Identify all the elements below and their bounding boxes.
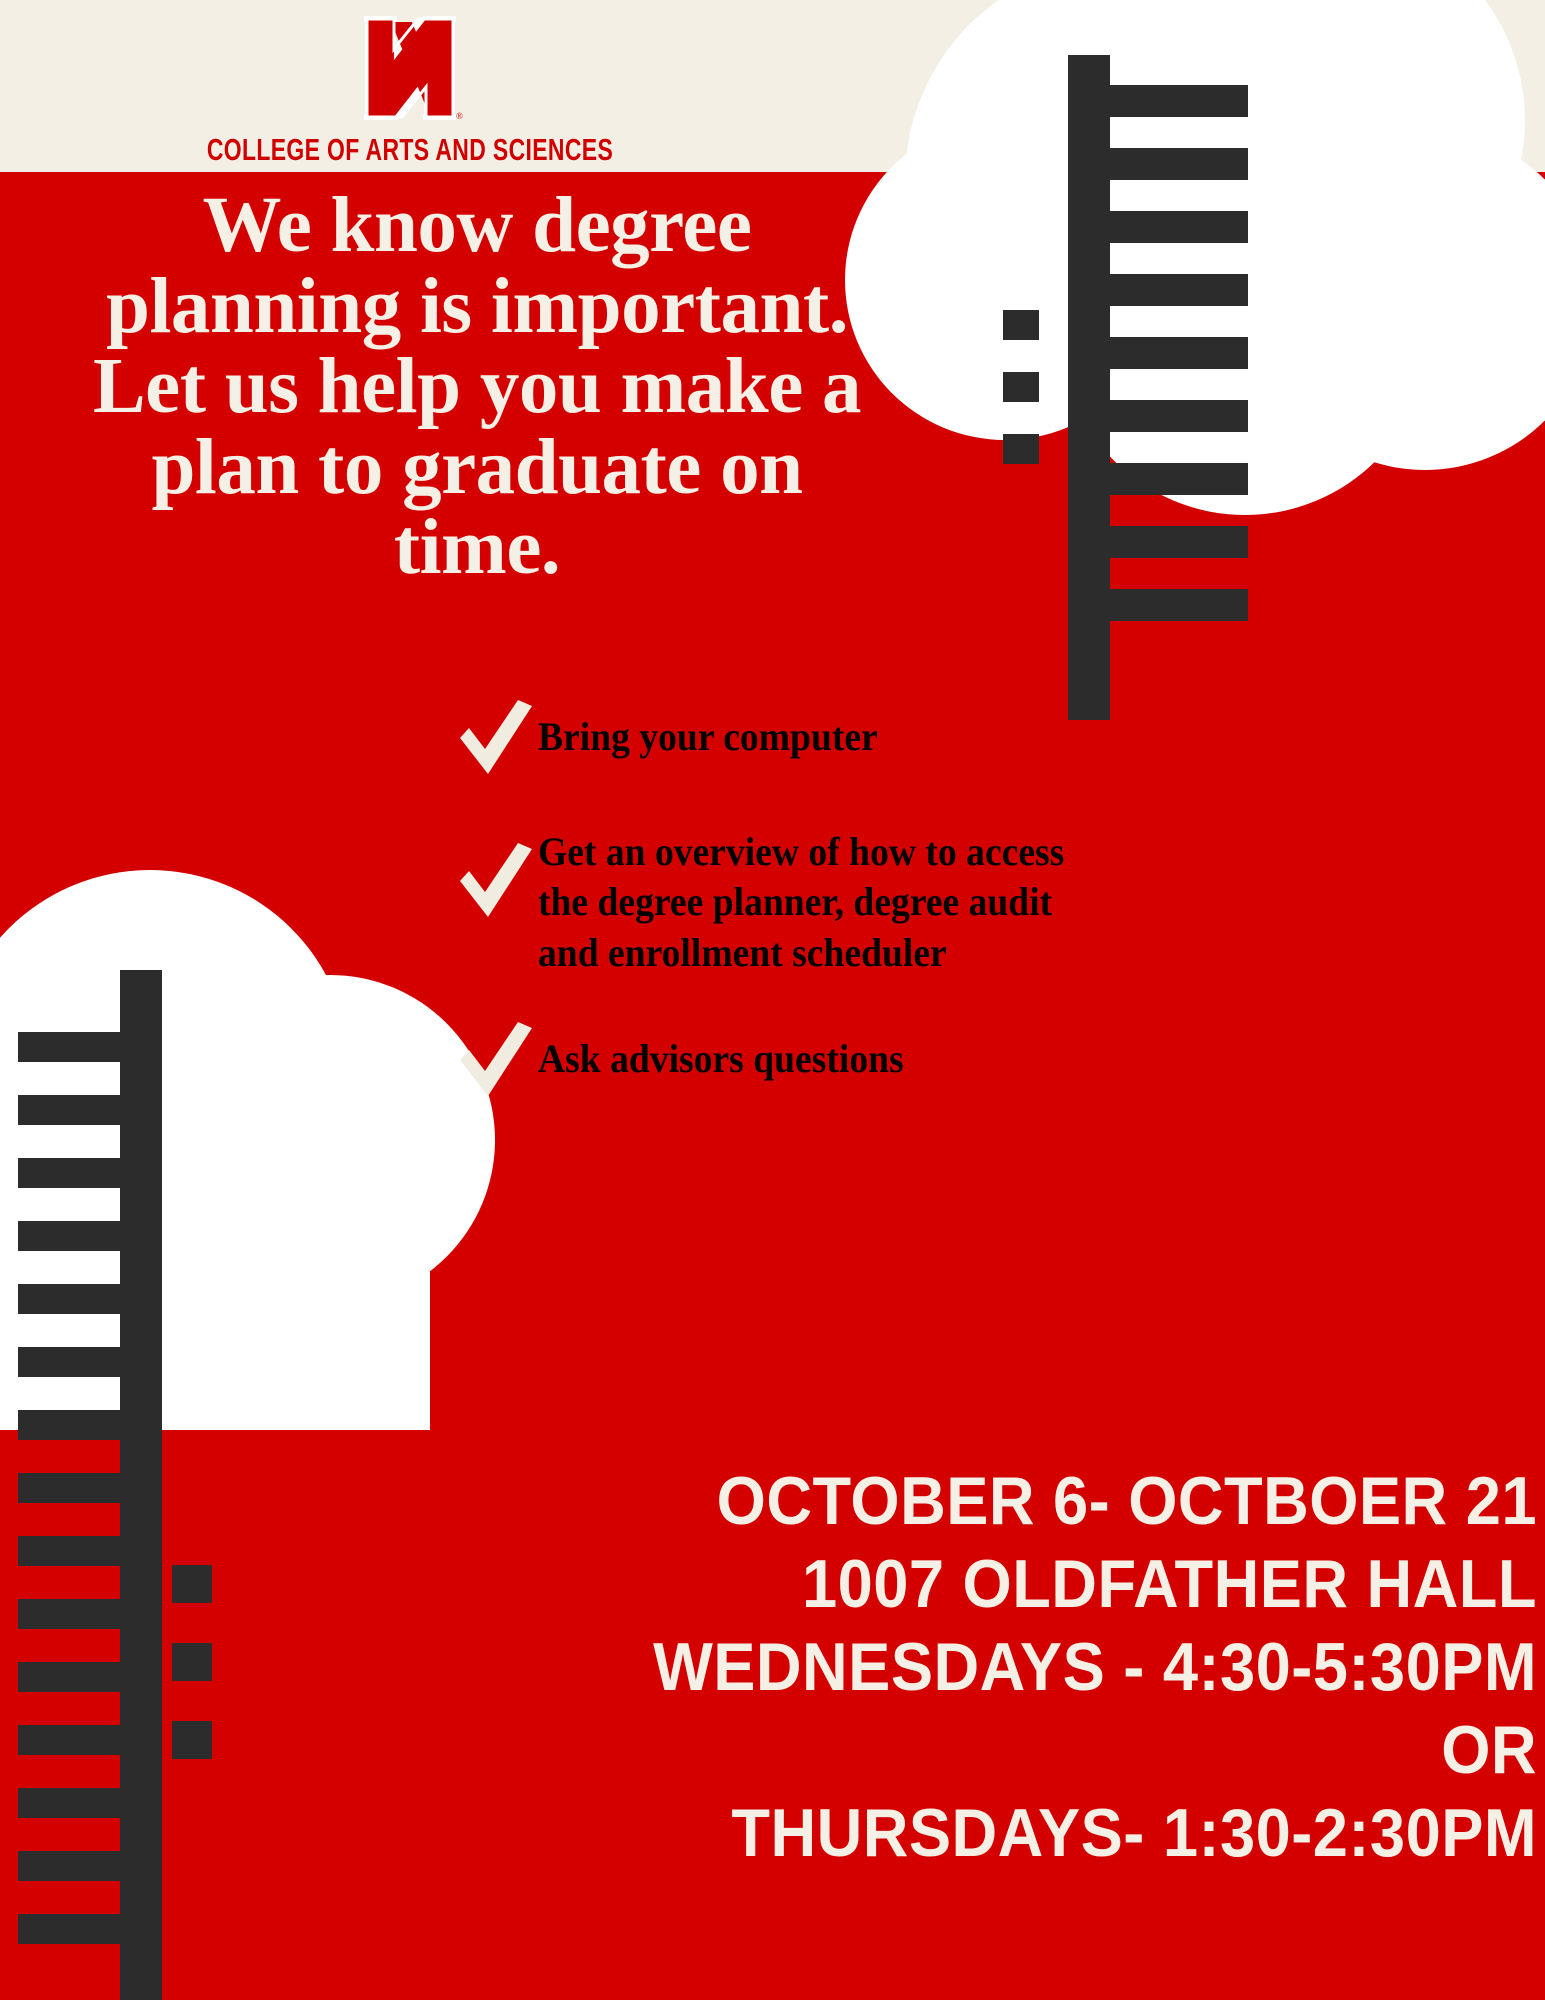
bullet-text: Bring your computer <box>538 690 1472 762</box>
square-dot <box>1003 310 1039 340</box>
event-time-wednesday: WEDNESDAYS - 4:30-5:30PM <box>179 1626 1537 1709</box>
bullet-line: the degree planner, degree audit <box>538 877 1472 927</box>
bullet-text: Get an overview of how to access the deg… <box>538 827 1472 978</box>
bullet-item: Get an overview of how to access the deg… <box>452 827 1532 978</box>
event-time-separator: OR <box>179 1709 1537 1792</box>
headline: We know degree planning is important. Le… <box>12 186 942 589</box>
event-dates: OCTOBER 6- OCTBOER 21 <box>179 1460 1537 1543</box>
event-location: 1007 OLDFATHER HALL <box>179 1543 1537 1626</box>
square-dot <box>1003 372 1039 402</box>
square-dots-top-right <box>1003 310 1063 470</box>
headline-line-3: Let us help you make a <box>12 347 942 428</box>
bullet-list: Bring your computer Get an overview of h… <box>452 690 1532 1149</box>
comb-top-right-decoration <box>1068 55 1545 725</box>
square-dot <box>1003 434 1039 464</box>
bullet-line: Get an overview of how to access <box>538 827 1472 877</box>
bullet-line: Bring your computer <box>538 712 1472 762</box>
event-details: OCTOBER 6- OCTBOER 21 1007 OLDFATHER HAL… <box>77 1460 1537 1875</box>
headline-line-5: time. <box>12 508 942 589</box>
bullet-line: Ask advisors questions <box>538 1034 1472 1084</box>
headline-line-4: plan to graduate on <box>12 428 942 509</box>
college-subtitle: COLLEGE OF ARTS AND SCIENCES <box>107 132 714 168</box>
bullet-item: Bring your computer <box>452 690 1532 785</box>
event-time-thursday: THURSDAYS- 1:30-2:30PM <box>179 1792 1537 1875</box>
bullet-line: and enrollment scheduler <box>538 928 1472 978</box>
checkmark-icon <box>452 694 538 785</box>
bullet-text: Ask advisors questions <box>538 1008 1472 1084</box>
headline-line-2: planning is important. <box>12 267 942 348</box>
bullet-item: Ask advisors questions <box>452 1008 1532 1107</box>
nebraska-n-logo: ® <box>350 8 470 128</box>
headline-line-1: We know degree <box>12 186 942 267</box>
logo-wrap: ® <box>0 8 820 128</box>
checkmark-icon <box>452 837 538 928</box>
poster-canvas: ® COLLEGE OF ARTS AND SCIENCES <box>0 0 1545 2000</box>
trademark-symbol: ® <box>456 111 463 121</box>
checkmark-icon <box>452 1016 538 1107</box>
